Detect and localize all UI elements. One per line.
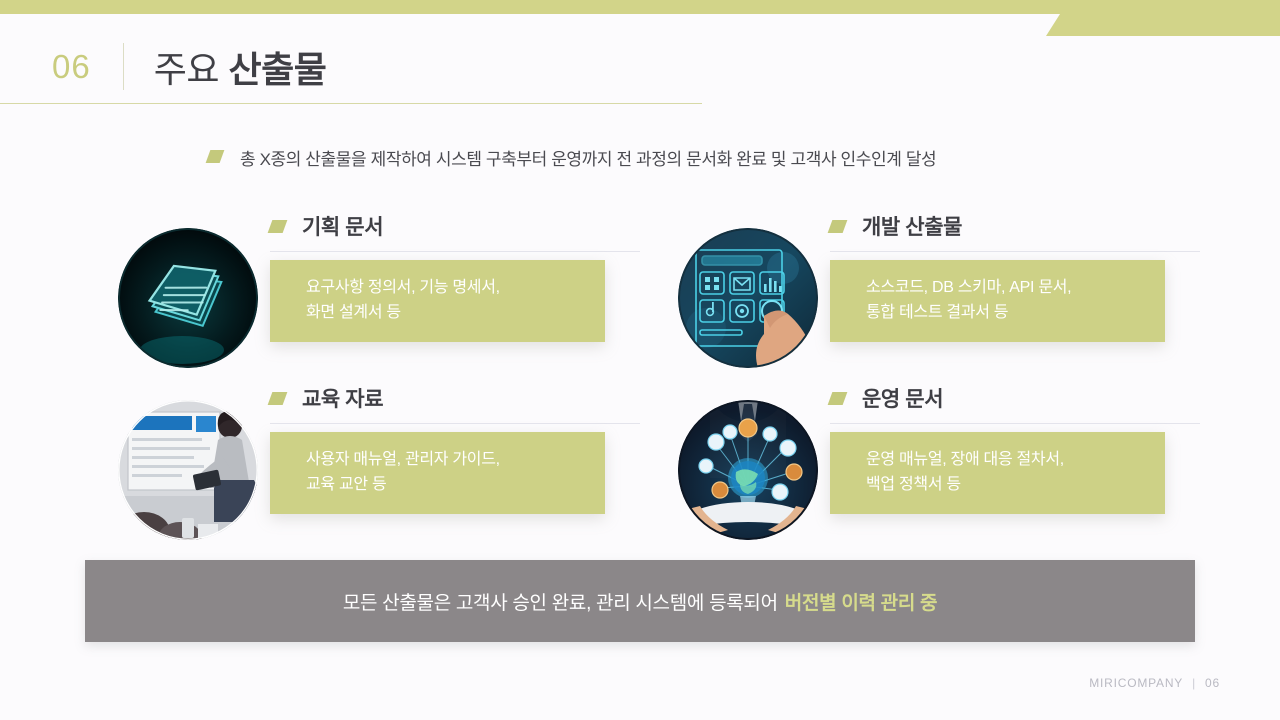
top-accent-bar (0, 0, 1280, 14)
subtitle-row: 총 X종의 산출물을 제작하여 시스템 구축부터 운영까지 전 과정의 문서화 … (208, 145, 936, 170)
card-detail-line: 요구사항 정의서, 기능 명세서, (306, 276, 605, 301)
page-title-bold: 산출물 (228, 49, 326, 90)
presenter-with-projector-photo (118, 400, 258, 540)
page-title: 주요 산출물 (154, 41, 327, 93)
footer-page-number: 06 (1205, 676, 1220, 690)
subtitle-text: 총 X종의 산출물을 제작하여 시스템 구축부터 운영까지 전 과정의 문서화 … (240, 145, 936, 170)
card-detail-line: 교육 교안 등 (306, 473, 605, 498)
card-detail-line: 화면 설계서 등 (306, 301, 605, 326)
card-divider (830, 423, 1200, 424)
card-detail-line: 백업 정책서 등 (866, 473, 1165, 498)
parallelogram-bullet-icon (828, 392, 848, 405)
card-divider (270, 423, 640, 424)
card-divider (270, 251, 640, 252)
footer-separator: | (1192, 676, 1196, 690)
card-title: 운영 문서 (862, 383, 943, 413)
page-title-light: 주요 (154, 49, 229, 90)
deliverable-card: 개발 산출물 소스코드, DB 스키마, API 문서, 통합 테스트 결과서 … (678, 205, 1218, 365)
parallelogram-bullet-icon (268, 220, 288, 233)
summary-banner: 모든 산출물은 고객사 승인 완료, 관리 시스템에 등록되어 버전별 이력 관… (85, 560, 1195, 642)
slide-header: 06 주요 산출물 (0, 30, 702, 104)
header-divider (123, 43, 124, 90)
card-detail-band: 소스코드, DB 스키마, API 문서, 통합 테스트 결과서 등 (830, 260, 1165, 342)
card-detail-line: 소스코드, DB 스키마, API 문서, (866, 276, 1165, 301)
glowing-documents-photo (118, 228, 258, 368)
card-detail-band: 운영 매뉴얼, 장애 대응 절차서, 백업 정책서 등 (830, 432, 1165, 514)
card-heading: 기획 문서 (270, 211, 383, 241)
card-title: 기획 문서 (302, 211, 383, 241)
deliverable-card: 기획 문서 요구사항 정의서, 기능 명세서, 화면 설계서 등 (118, 205, 658, 365)
card-detail-band: 요구사항 정의서, 기능 명세서, 화면 설계서 등 (270, 260, 605, 342)
card-heading: 개발 산출물 (830, 211, 962, 241)
footer: MIRICOMPANY | 06 (1089, 676, 1220, 690)
card-heading: 교육 자료 (270, 383, 383, 413)
footer-company: MIRICOMPANY (1089, 676, 1183, 690)
hand-touching-hologram-ui-photo (678, 228, 818, 368)
deliverable-card: 교육 자료 사용자 매뉴얼, 관리자 가이드, 교육 교안 등 (118, 377, 658, 537)
card-detail-line: 통합 테스트 결과서 등 (866, 301, 1165, 326)
card-detail-band: 사용자 매뉴얼, 관리자 가이드, 교육 교안 등 (270, 432, 605, 514)
card-title: 교육 자료 (302, 383, 383, 413)
card-heading: 운영 문서 (830, 383, 943, 413)
slide-number: 06 (52, 48, 91, 86)
top-accent-bar-step (1046, 14, 1280, 36)
parallelogram-bullet-icon (268, 392, 288, 405)
businessman-tablet-globe-network-photo (678, 400, 818, 540)
parallelogram-bullet-icon (828, 220, 848, 233)
parallelogram-bullet-icon (206, 150, 225, 163)
card-detail-line: 사용자 매뉴얼, 관리자 가이드, (306, 448, 605, 473)
card-title: 개발 산출물 (862, 211, 962, 241)
summary-banner-text: 모든 산출물은 고객사 승인 완료, 관리 시스템에 등록되어 (343, 588, 778, 615)
deliverable-card: 운영 문서 운영 매뉴얼, 장애 대응 절차서, 백업 정책서 등 (678, 377, 1218, 537)
card-detail-line: 운영 매뉴얼, 장애 대응 절차서, (866, 448, 1165, 473)
summary-banner-accent: 버전별 이력 관리 중 (785, 588, 937, 615)
card-divider (830, 251, 1200, 252)
